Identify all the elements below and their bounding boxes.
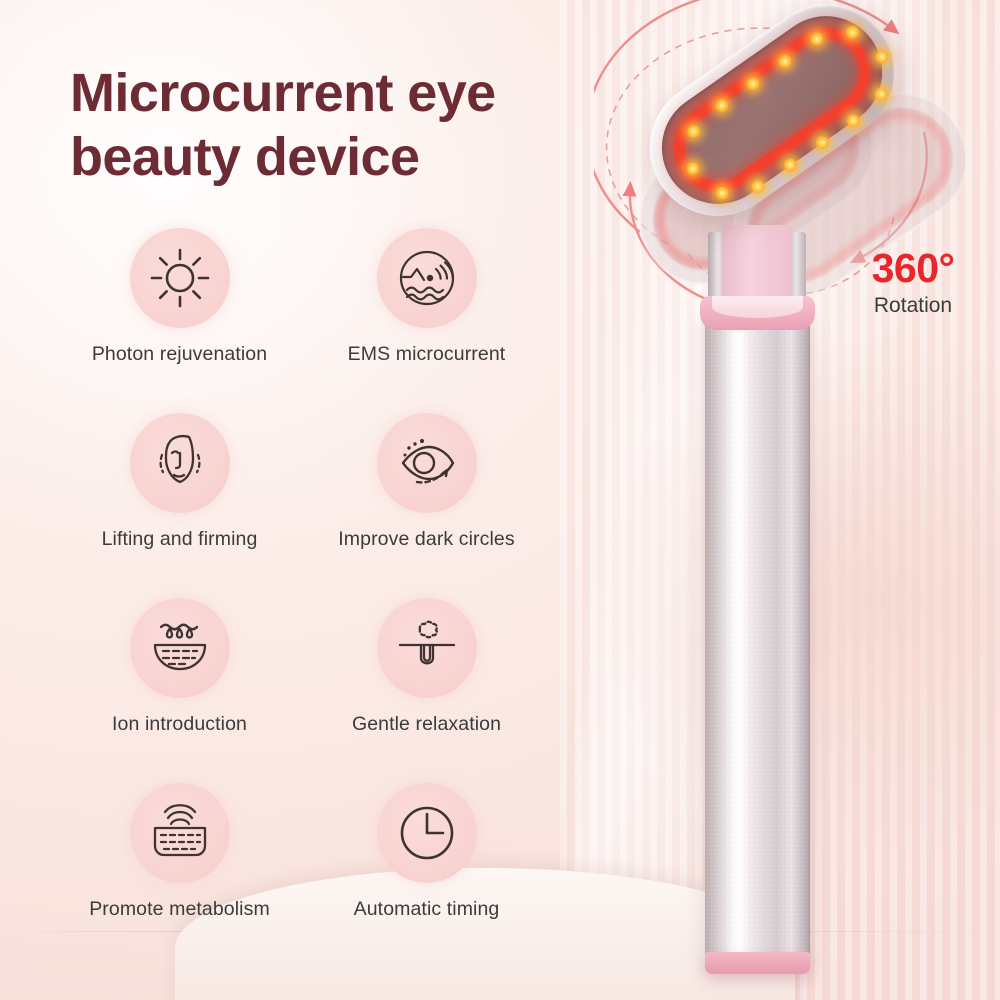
clock-icon: [395, 801, 459, 865]
feature-item: Promote metabolism: [62, 783, 297, 968]
feature-label: Ion introduction: [112, 713, 247, 736]
feature-icon-badge: [130, 413, 230, 513]
led-dot: [712, 96, 730, 114]
led-dot: [685, 122, 703, 140]
eye-icon: [393, 433, 461, 493]
led-dot: [744, 74, 762, 92]
skin-waves-icon: [147, 802, 213, 864]
handle-highlight: [727, 312, 749, 967]
feature-label: Automatic timing: [354, 898, 500, 921]
sun-icon: [148, 246, 212, 310]
feature-icon-badge: [377, 598, 477, 698]
pore-steam-icon: [394, 617, 460, 679]
feature-icon-badge: [130, 783, 230, 883]
feature-item: Gentle relaxation: [309, 598, 544, 783]
feature-label: Photon rejuvenation: [92, 343, 267, 366]
title-line-1: Microcurrent eye: [70, 62, 650, 126]
feature-label: Lifting and firming: [102, 528, 258, 551]
feature-icon-badge: [130, 228, 230, 328]
feature-grid: Photon rejuvenation EMS microcurrent: [62, 228, 582, 968]
led-dot: [684, 160, 702, 178]
feature-label: Improve dark circles: [338, 528, 514, 551]
feature-icon-badge: [377, 228, 477, 328]
product-poster: Microcurrent eye beauty device Photon re…: [0, 0, 1000, 1000]
feature-item: Lifting and firming: [62, 413, 297, 598]
feature-label: Gentle relaxation: [352, 713, 501, 736]
handle-collar-notch: [712, 296, 803, 318]
feature-item: EMS microcurrent: [309, 228, 544, 413]
feature-label: EMS microcurrent: [348, 343, 506, 366]
handle-texture: [705, 312, 810, 967]
page-title: Microcurrent eye beauty device: [70, 62, 650, 189]
device-handle: [705, 312, 810, 967]
rotation-callout: 360° Rotation: [843, 248, 983, 318]
handle-foot: [705, 952, 810, 974]
feature-item: Automatic timing: [309, 783, 544, 968]
led-dot: [807, 30, 825, 48]
feature-icon-badge: [130, 598, 230, 698]
feature-icon-badge: [377, 413, 477, 513]
face-profile-icon: [148, 431, 212, 495]
feature-item: Improve dark circles: [309, 413, 544, 598]
feature-label: Promote metabolism: [89, 898, 270, 921]
feature-item: Photon rejuvenation: [62, 228, 297, 413]
product-device: 360° Rotation: [600, 0, 1000, 1000]
rotation-value: 360°: [843, 248, 983, 289]
rotation-label: Rotation: [843, 294, 983, 318]
feature-item: Ion introduction: [62, 598, 297, 783]
led-dot: [775, 52, 793, 70]
feature-icon-badge: [377, 783, 477, 883]
water-droplets-icon: [147, 618, 213, 678]
title-line-2: beauty device: [70, 126, 650, 190]
ems-wave-icon: [394, 245, 460, 311]
